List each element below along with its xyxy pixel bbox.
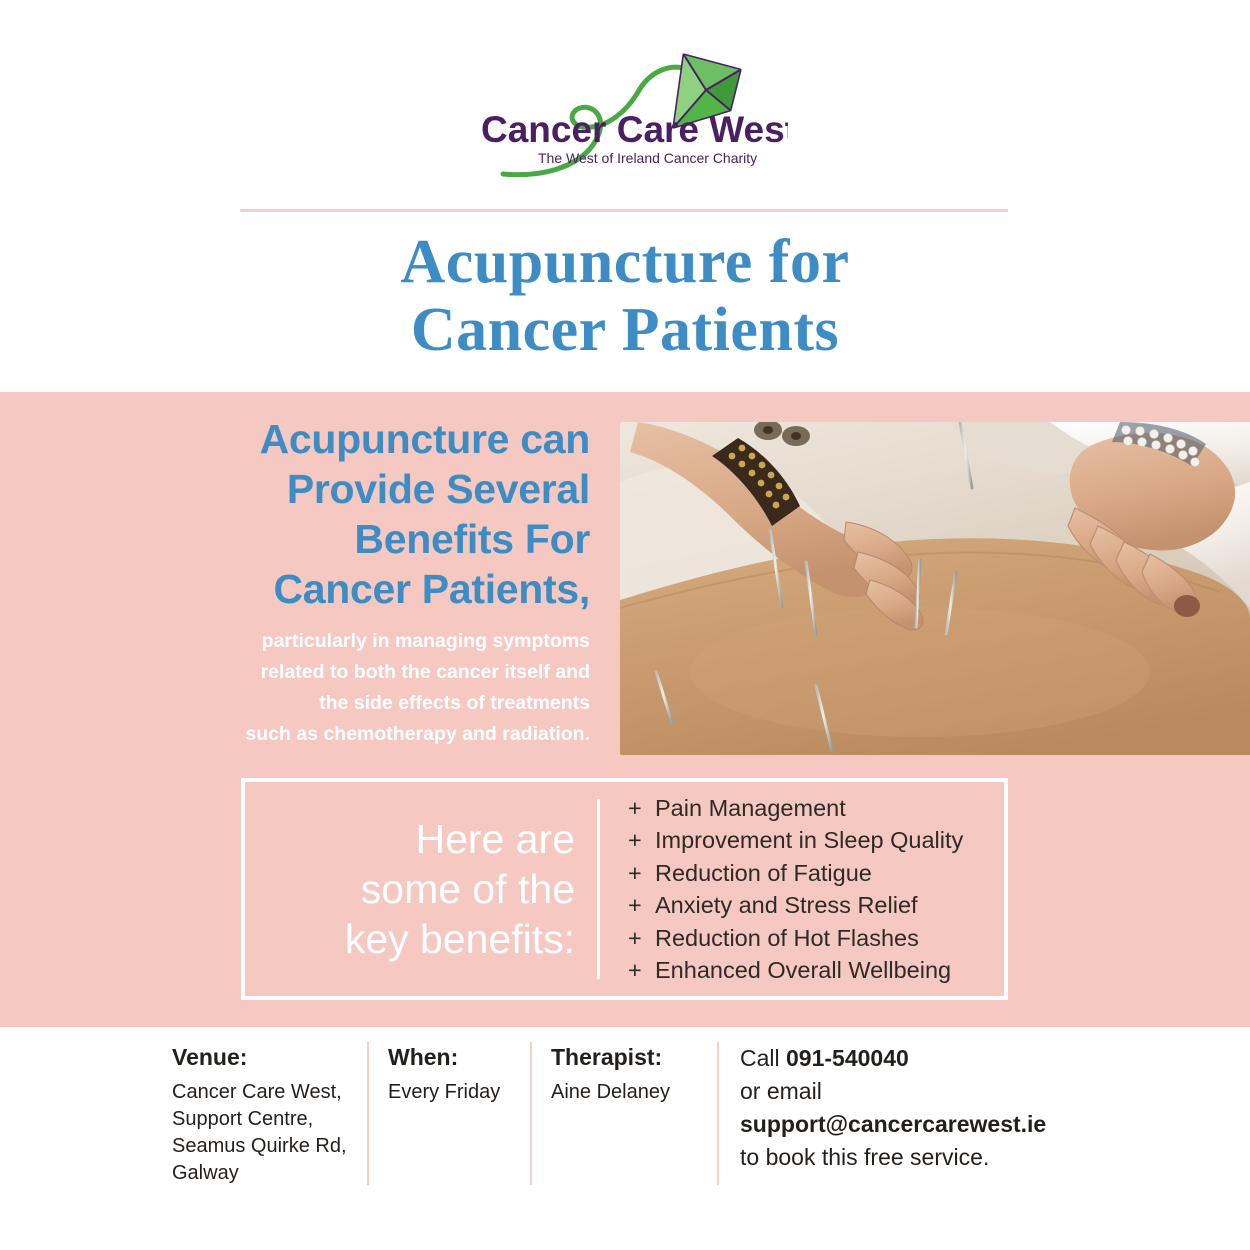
contact-email-prefix: or email: [740, 1075, 1140, 1108]
benefit-label: Reduction of Hot Flashes: [655, 922, 919, 955]
intro-subtext-line-1: particularly in managing symptoms: [180, 626, 590, 657]
footer-when: When: Every Friday: [388, 1042, 528, 1106]
benefits-heading-line-2: some of the: [245, 864, 575, 914]
venue-heading: Venue:: [172, 1042, 347, 1072]
header: Cancer Care West The West of Ireland Can…: [0, 0, 1250, 210]
acupuncture-treatment-photo: [620, 422, 1250, 755]
intro-subtext: particularly in managing symptoms relate…: [180, 626, 590, 750]
benefits-heading: Here are some of the key benefits:: [245, 814, 597, 964]
therapist-heading: Therapist:: [551, 1042, 721, 1072]
fingernail: [1174, 595, 1200, 617]
intro-headline-line-2: Provide Several: [180, 464, 590, 514]
benefit-label: Anxiety and Stress Relief: [655, 889, 918, 922]
venue-line-2: Support Centre,: [172, 1106, 347, 1133]
when-heading: When:: [388, 1042, 528, 1072]
benefit-item: + Anxiety and Stress Relief: [628, 889, 1004, 922]
title-line-2: Cancer Patients: [0, 296, 1250, 364]
venue-line-1: Cancer Care West,: [172, 1079, 347, 1106]
benefit-item: + Reduction of Fatigue: [628, 857, 1004, 890]
benefit-label: Reduction of Fatigue: [655, 857, 872, 890]
pink-content-band: Acupuncture can Provide Several Benefits…: [0, 392, 1250, 1027]
plus-icon: +: [628, 857, 655, 890]
cancer-care-west-logo[interactable]: Cancer Care West The West of Ireland Can…: [478, 52, 788, 177]
intro-subtext-line-2: related to both the cancer itself and: [180, 657, 590, 688]
when-value: Every Friday: [388, 1079, 528, 1106]
email-address[interactable]: support@cancercarewest.ie: [740, 1111, 1046, 1137]
title-line-1: Acupuncture for: [0, 228, 1250, 296]
benefits-heading-line-1: Here are: [245, 814, 575, 864]
logo-tagline: The West of Ireland Cancer Charity: [538, 150, 757, 166]
intro-headline-line-1: Acupuncture can: [180, 414, 590, 464]
logo-svg: Cancer Care West The West of Ireland Can…: [478, 52, 788, 177]
footer-divider: [530, 1042, 532, 1185]
intro-headline-line-4: Cancer Patients,: [180, 564, 590, 614]
phone-number[interactable]: 091-540040: [786, 1045, 909, 1071]
intro-headline-line-3: Benefits For: [180, 514, 590, 564]
contact-email[interactable]: support@cancercarewest.ie: [740, 1108, 1140, 1141]
logo-wordmark: Cancer Care West: [481, 109, 788, 150]
footer-divider: [367, 1042, 369, 1185]
benefits-list: + Pain Management + Improvement in Sleep…: [600, 792, 1004, 987]
contact-closing: to book this free service.: [740, 1141, 1140, 1174]
therapist-value: Aine Delaney: [551, 1079, 721, 1106]
footer-contact: Call 091-540040 or email support@cancerc…: [740, 1042, 1140, 1174]
intro-subtext-line-3: the side effects of treatments: [180, 688, 590, 719]
plus-icon: +: [628, 824, 655, 857]
venue-line-4: Galway: [172, 1160, 347, 1187]
benefit-item: + Reduction of Hot Flashes: [628, 922, 1004, 955]
footer: Venue: Cancer Care West, Support Centre,…: [0, 1027, 1250, 1250]
photo-illustration: [620, 422, 1250, 755]
venue-line-3: Seamus Quirke Rd,: [172, 1133, 347, 1160]
benefits-heading-line-3: key benefits:: [245, 914, 575, 964]
benefit-label: Enhanced Overall Wellbeing: [655, 954, 951, 987]
benefits-box: Here are some of the key benefits: + Pai…: [241, 778, 1008, 1000]
plus-icon: +: [628, 954, 655, 987]
benefit-item: + Enhanced Overall Wellbeing: [628, 954, 1004, 987]
page-title: Acupuncture for Cancer Patients: [0, 228, 1250, 364]
header-divider-rule: [240, 209, 1008, 212]
benefit-item: + Improvement in Sleep Quality: [628, 824, 1004, 857]
footer-therapist: Therapist: Aine Delaney: [551, 1042, 721, 1106]
benefit-label: Improvement in Sleep Quality: [655, 824, 963, 857]
benefit-label: Pain Management: [655, 792, 846, 825]
contact-call-line: Call 091-540040: [740, 1042, 1140, 1075]
plus-icon: +: [628, 889, 655, 922]
footer-venue: Venue: Cancer Care West, Support Centre,…: [172, 1042, 347, 1187]
plus-icon: +: [628, 792, 655, 825]
benefit-item: + Pain Management: [628, 792, 1004, 825]
intro-subtext-line-4: such as chemotherapy and radiation.: [180, 719, 590, 750]
intro-headline-block: Acupuncture can Provide Several Benefits…: [180, 414, 590, 750]
plus-icon: +: [628, 922, 655, 955]
call-prefix: Call: [740, 1045, 786, 1071]
